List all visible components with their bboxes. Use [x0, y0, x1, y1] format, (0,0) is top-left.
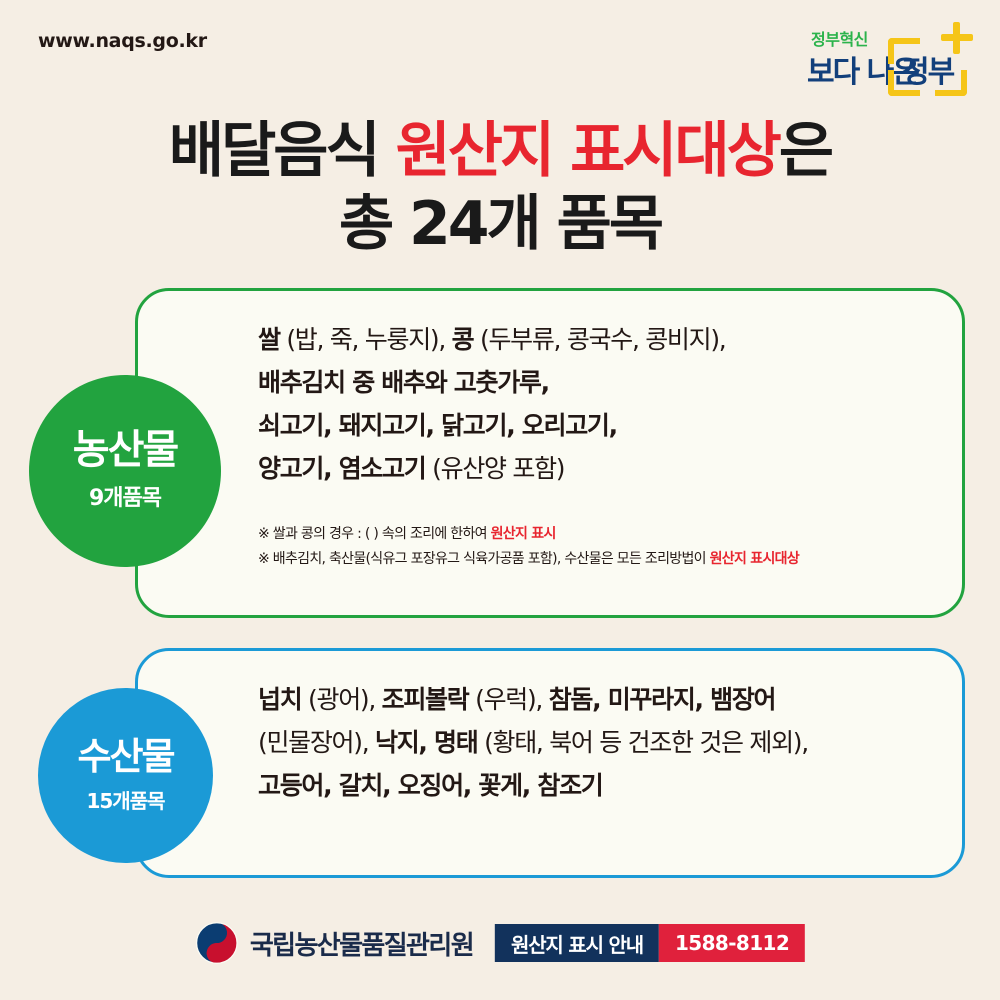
plus-icon-horizontal: [941, 34, 973, 41]
item-light-2: (우럭),: [468, 685, 548, 714]
item-bold-2: 조피볼락: [382, 685, 469, 714]
note-text: ※ 쌀과 콩의 경우 : ( ) 속의 조리에 한하여: [258, 526, 491, 542]
title-line-2: 총 24개 품목: [0, 188, 1000, 261]
site-url: www.naqs.go.kr: [38, 30, 207, 52]
fishery-items-list: 넙치 (광어), 조피볼락 (우럭), 참돔, 미꾸라지, 뱀장어 (민물장어)…: [258, 678, 948, 807]
item-bold-1: 양고기, 염소고기: [258, 454, 426, 483]
fishery-products-badge: 수산물 15개품목: [38, 688, 213, 863]
item-light-1: (민물장어),: [258, 728, 375, 757]
list-item: 배추김치 중 배추와 고춧가루,: [258, 361, 948, 404]
item-light-2: (황태, 북어 등 건조한 것은 제외),: [477, 728, 807, 757]
item-light-1: (유산양 포함): [426, 454, 565, 483]
note-highlight: 원산지 표시대상: [710, 551, 799, 567]
list-item: 넙치 (광어), 조피볼락 (우럭), 참돔, 미꾸라지, 뱀장어: [258, 678, 948, 721]
item-bold-1: 쌀: [258, 325, 280, 354]
title-highlight: 원산지 표시대상: [396, 116, 779, 186]
title-text-part1: 배달음식: [169, 116, 396, 186]
badge-title-fishery: 수산물: [77, 738, 173, 775]
agricultural-notes: ※ 쌀과 콩의 경우 : ( ) 속의 조리에 한하여 원산지 표시 ※ 배추김…: [258, 522, 958, 573]
list-item: 쇠고기, 돼지고기, 닭고기, 오리고기,: [258, 404, 948, 447]
list-item: 고등어, 갈치, 오징어, 꽃게, 참조기: [258, 764, 948, 807]
badge-count-agricultural: 9개품목: [89, 480, 161, 512]
organization-name: 국립농산물품질관리원: [250, 925, 473, 962]
list-item: (민물장어), 낙지, 명태 (황태, 북어 등 건조한 것은 제외),: [258, 721, 948, 764]
item-light-1: (밥, 죽, 누룽지),: [280, 325, 452, 354]
origin-info-contact[interactable]: 원산지 표시 안내 1588-8112: [495, 924, 805, 962]
badge-title-agricultural: 농산물: [73, 430, 177, 470]
note-highlight: 원산지 표시: [491, 526, 556, 542]
agricultural-items-list: 쌀 (밥, 죽, 누룽지), 콩 (두부류, 콩국수, 콩비지), 배추김치 중…: [258, 318, 948, 490]
footer: 국립농산물품질관리원 원산지 표시 안내 1588-8112: [0, 915, 1000, 975]
title-text-part2: 은: [779, 116, 831, 186]
item-bold-2: 콩: [452, 325, 474, 354]
item-bold-3: 참돔, 미꾸라지, 뱀장어: [549, 685, 776, 714]
gov-logo-slogan-right: 정부: [902, 47, 953, 91]
note-text: ※ 배추김치, 축산물(식유그 포장유그 식육가공품 포함), 수산물은 모든 …: [258, 551, 710, 567]
item-bold-1: 배추김치 중 배추와 고춧가루,: [258, 368, 549, 397]
note-line: ※ 배추김치, 축산물(식유그 포장유그 식육가공품 포함), 수산물은 모든 …: [258, 547, 958, 572]
item-light-1: (광어),: [301, 685, 381, 714]
item-bold-2: 낙지, 명태: [375, 728, 477, 757]
taegeuk-government-emblem-icon: [195, 921, 239, 965]
list-item: 쌀 (밥, 죽, 누룽지), 콩 (두부류, 콩국수, 콩비지),: [258, 318, 948, 361]
item-bold-1: 넙치: [258, 685, 301, 714]
title-line-1: 배달음식 원산지 표시대상은: [0, 115, 1000, 188]
page-title: 배달음식 원산지 표시대상은 총 24개 품목: [0, 115, 1000, 261]
list-item: 양고기, 염소고기 (유산양 포함): [258, 447, 948, 490]
contact-phone-number[interactable]: 1588-8112: [659, 924, 805, 962]
item-bold-1: 쇠고기, 돼지고기, 닭고기, 오리고기,: [258, 411, 617, 440]
item-bold-1: 고등어, 갈치, 오징어, 꽃게, 참조기: [258, 771, 603, 800]
note-line: ※ 쌀과 콩의 경우 : ( ) 속의 조리에 한하여 원산지 표시: [258, 522, 958, 547]
origin-info-label: 원산지 표시 안내: [495, 924, 659, 962]
government-innovation-logo: 정부혁신 보다 나은 정부: [785, 20, 975, 100]
item-light-2: (두부류, 콩국수, 콩비지),: [473, 325, 725, 354]
agricultural-products-badge: 농산물 9개품목: [29, 375, 221, 567]
badge-count-fishery: 15개품목: [86, 785, 164, 814]
